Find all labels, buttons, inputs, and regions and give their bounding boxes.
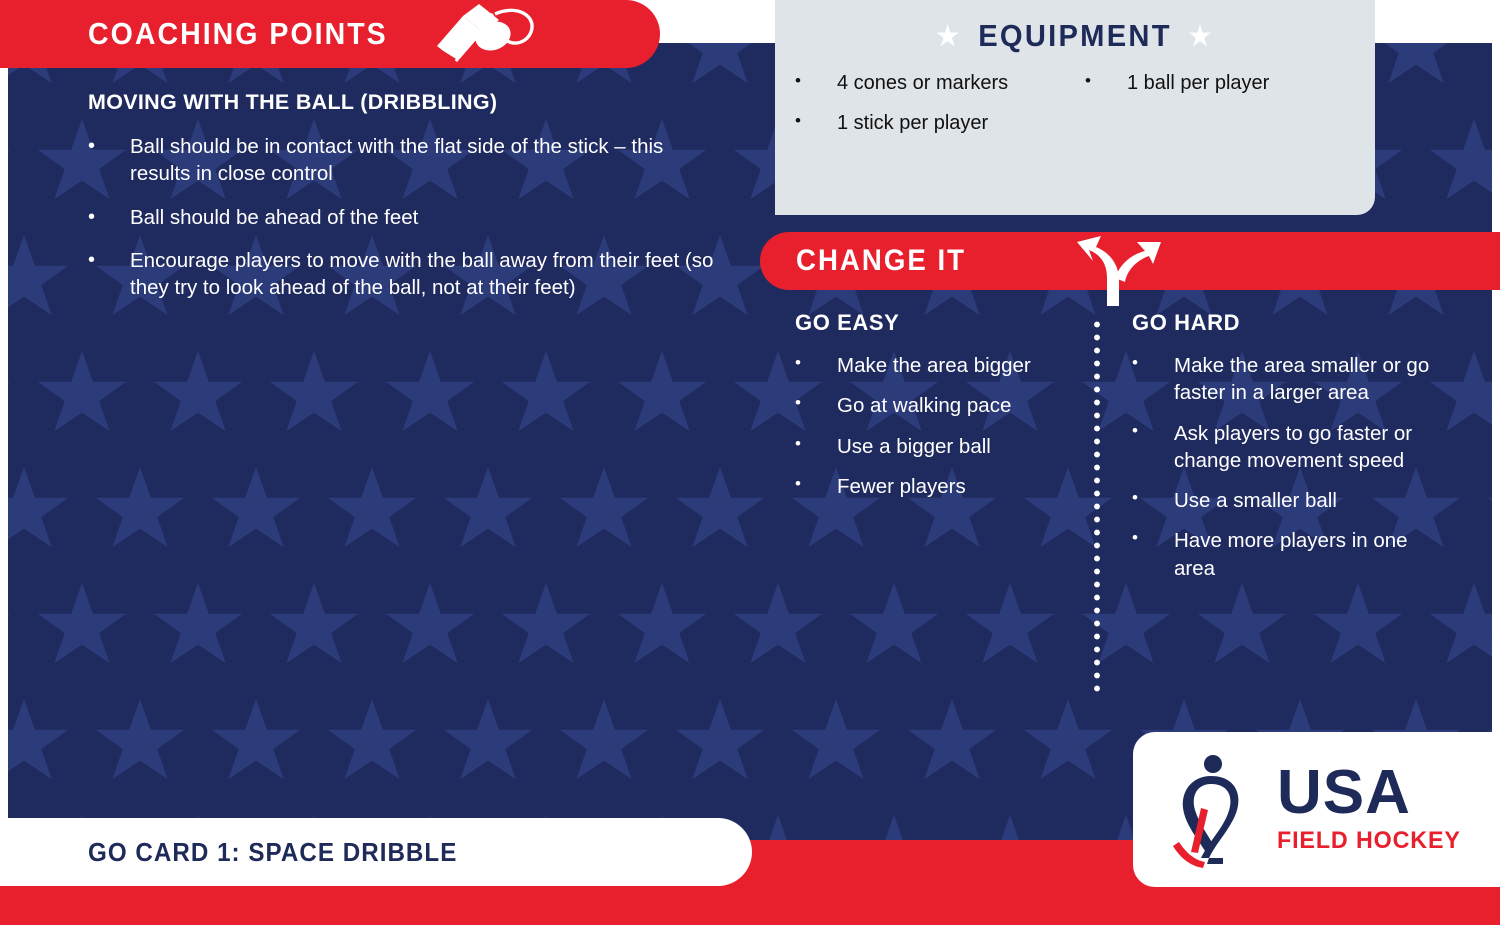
branching-arrows-icon	[1063, 228, 1163, 306]
usa-field-hockey-logo: USA FIELD HOCKEY	[1133, 732, 1500, 887]
coaching-point-text: Ball should be ahead of the feet	[130, 204, 418, 231]
go-hard-item: •Ask players to go faster or change move…	[1132, 420, 1432, 475]
star-icon	[500, 583, 592, 671]
star-icon	[8, 467, 70, 555]
go-easy-section: GO EASY •Make the area bigger•Go at walk…	[795, 310, 1095, 513]
card-title: GO CARD 1: SPACE DRIBBLE	[88, 837, 457, 868]
equipment-title-text: EQUIPMENT	[978, 18, 1172, 54]
logo-wordmark: USA FIELD HOCKEY	[1277, 764, 1466, 855]
star-icon	[8, 699, 70, 787]
star-icon	[94, 467, 186, 555]
field-hockey-player-icon	[1171, 750, 1267, 870]
coaching-point-text: Ball should be in contact with the flat …	[130, 133, 728, 188]
star-icon	[790, 699, 882, 787]
star-icon	[1196, 583, 1288, 671]
star-icon	[964, 583, 1056, 671]
star-icon	[384, 351, 476, 439]
star-icon	[8, 583, 12, 671]
go-easy-list: •Make the area bigger•Go at walking pace…	[795, 352, 1095, 500]
coaching-points-header: COACHING POINTS	[0, 0, 660, 68]
bullet-icon: •	[795, 352, 837, 379]
card-title-bar: GO CARD 1: SPACE DRIBBLE	[0, 818, 752, 886]
bullet-icon: •	[1085, 70, 1127, 96]
go-easy-text: Use a bigger ball	[837, 433, 991, 460]
coaching-point-item: •Ball should be ahead of the feet	[88, 204, 728, 231]
star-icon	[210, 699, 302, 787]
star-icon	[8, 119, 12, 207]
coaching-points-body: MOVING WITH THE BALL (DRIBBLING) •Ball s…	[88, 90, 728, 317]
go-hard-text: Make the area smaller or go faster in a …	[1174, 352, 1432, 407]
bullet-icon: •	[795, 473, 837, 500]
go-hard-item: •Use a smaller ball	[1132, 487, 1432, 514]
star-icon	[674, 43, 766, 91]
go-easy-item: •Use a bigger ball	[795, 433, 1095, 460]
go-hard-text: Use a smaller ball	[1174, 487, 1337, 514]
equipment-item-text: 1 ball per player	[1127, 70, 1269, 96]
go-hard-heading: GO HARD	[1132, 310, 1432, 336]
go-hard-section: GO HARD •Make the area smaller or go fas…	[1132, 310, 1432, 595]
equipment-panel: ★ EQUIPMENT ★ •4 cones or markers•1 stic…	[775, 0, 1375, 215]
coaching-points-title: COACHING POINTS	[88, 16, 388, 52]
star-icon	[1486, 467, 1492, 555]
equipment-item: •1 stick per player	[795, 110, 1085, 136]
equipment-columns: •4 cones or markers•1 stick per player •…	[775, 54, 1375, 150]
bullet-icon: •	[1132, 352, 1174, 407]
star-icon	[964, 815, 1056, 840]
star-icon	[1022, 699, 1114, 787]
star-icon	[268, 583, 360, 671]
coaching-point-item: •Encourage players to move with the ball…	[88, 247, 728, 302]
equipment-header: ★ EQUIPMENT ★	[793, 0, 1357, 54]
bullet-icon: •	[88, 204, 130, 231]
go-hard-text: Ask players to go faster or change movem…	[1174, 420, 1432, 475]
bullet-icon: •	[795, 70, 837, 96]
go-hard-item: •Have more players in one area	[1132, 527, 1432, 582]
equipment-item-text: 4 cones or markers	[837, 70, 1008, 96]
star-icon	[1370, 43, 1462, 91]
bullet-icon: •	[795, 433, 837, 460]
star-icon	[848, 815, 940, 840]
star-icon	[442, 699, 534, 787]
star-icon	[674, 699, 766, 787]
go-easy-item: •Make the area bigger	[795, 352, 1095, 379]
logo-usa-text: USA	[1277, 764, 1466, 823]
whistle-icon	[425, 2, 545, 68]
go-easy-item: •Fewer players	[795, 473, 1095, 500]
bullet-icon: •	[88, 247, 130, 302]
star-icon	[152, 351, 244, 439]
bullet-icon: •	[1132, 487, 1174, 514]
star-icon	[674, 467, 766, 555]
star-icon	[1428, 351, 1492, 439]
star-icon	[500, 351, 592, 439]
bullet-icon: •	[795, 392, 837, 419]
star-icon	[616, 351, 708, 439]
star-icon	[8, 351, 12, 439]
star-icon	[152, 583, 244, 671]
go-easy-text: Go at walking pace	[837, 392, 1011, 419]
star-icon	[36, 583, 128, 671]
bullet-icon: •	[1132, 527, 1174, 582]
star-icon	[1428, 583, 1492, 671]
star-icon	[1312, 583, 1404, 671]
go-easy-text: Make the area bigger	[837, 352, 1031, 379]
equipment-item-text: 1 stick per player	[837, 110, 988, 136]
star-icon	[558, 699, 650, 787]
coaching-points-list: •Ball should be in contact with the flat…	[88, 133, 728, 301]
go-hard-list: •Make the area smaller or go faster in a…	[1132, 352, 1432, 582]
star-icon	[1486, 43, 1492, 91]
star-icon	[8, 235, 70, 323]
go-card: COACHING POINTS MOVING WITH THE BALL (DR…	[0, 0, 1500, 925]
go-hard-text: Have more players in one area	[1174, 527, 1432, 582]
star-icon	[210, 467, 302, 555]
bullet-icon: •	[795, 110, 837, 136]
go-easy-text: Fewer players	[837, 473, 966, 500]
coaching-point-text: Encourage players to move with the ball …	[130, 247, 728, 302]
equipment-item: •4 cones or markers	[795, 70, 1085, 96]
star-icon	[442, 467, 534, 555]
star-icon	[94, 699, 186, 787]
star-icon	[906, 699, 998, 787]
star-icon	[732, 583, 824, 671]
equipment-item: •1 ball per player	[1085, 70, 1375, 96]
go-easy-item: •Go at walking pace	[795, 392, 1095, 419]
star-icon-right: ★	[1189, 23, 1214, 50]
star-icon	[326, 699, 418, 787]
star-icon	[326, 467, 418, 555]
star-icon	[384, 583, 476, 671]
star-icon	[616, 583, 708, 671]
coaching-points-subheading: MOVING WITH THE BALL (DRIBBLING)	[88, 90, 728, 115]
equipment-column-left: •4 cones or markers•1 stick per player	[795, 70, 1085, 150]
bullet-icon: •	[88, 133, 130, 188]
star-icon-left: ★	[936, 23, 961, 50]
star-icon	[848, 583, 940, 671]
coaching-point-item: •Ball should be in contact with the flat…	[88, 133, 728, 188]
bullet-icon: •	[1132, 420, 1174, 475]
star-icon	[268, 351, 360, 439]
go-hard-item: •Make the area smaller or go faster in a…	[1132, 352, 1432, 407]
star-icon	[558, 467, 650, 555]
go-easy-heading: GO EASY	[795, 310, 1095, 336]
star-icon	[1428, 119, 1492, 207]
star-icon	[36, 351, 128, 439]
equipment-column-right: •1 ball per player	[1085, 70, 1375, 150]
logo-field-hockey-text: FIELD HOCKEY	[1277, 827, 1461, 855]
change-it-title: CHANGE IT	[796, 244, 966, 278]
